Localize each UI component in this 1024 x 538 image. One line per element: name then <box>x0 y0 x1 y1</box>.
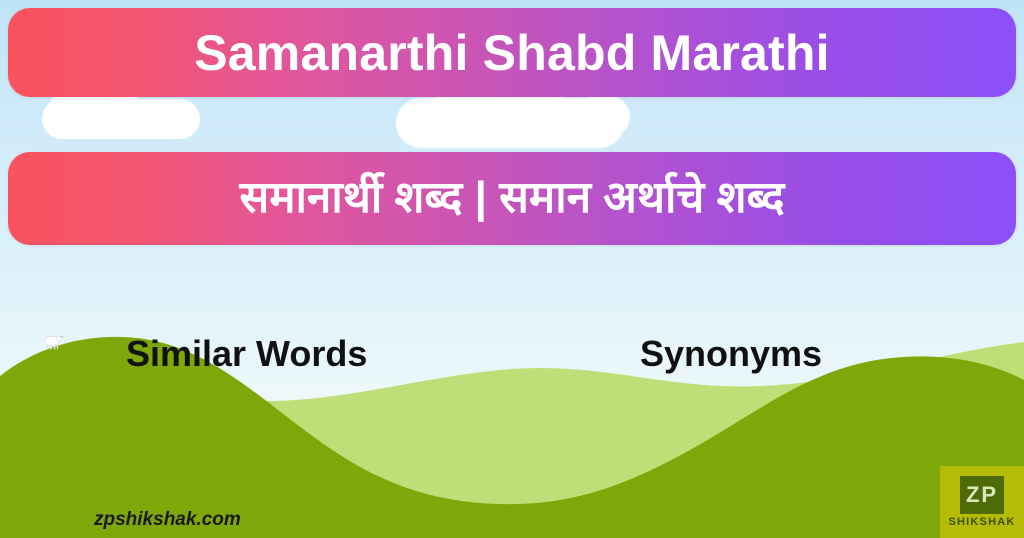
title-banner: Samanarthi Shabd Marathi <box>8 8 1016 97</box>
cloud-left-icon <box>42 99 200 139</box>
logo-mark-text: ZP <box>966 484 998 506</box>
cloud-middle-icon <box>396 98 624 148</box>
sheep-icon <box>41 333 65 351</box>
title-text: Samanarthi Shabd Marathi <box>194 28 830 78</box>
label-synonyms: Synonyms <box>640 333 822 375</box>
logo-mark-tile: ZP <box>960 476 1004 514</box>
poster-canvas: Samanarthi Shabd Marathi समानार्थी शब्द … <box>0 0 1024 538</box>
logo-wordmark: SHIKSHAK <box>948 517 1015 528</box>
zpshikshak-logo: ZP SHIKSHAK <box>940 466 1024 538</box>
subtitle-text: समानार्थी शब्द | समान अर्थाचे शब्द <box>239 173 784 224</box>
label-similar-words: Similar Words <box>126 333 367 375</box>
site-watermark: zpshikshak.com <box>94 509 241 531</box>
subtitle-banner: समानार्थी शब्द | समान अर्थाचे शब्द <box>8 152 1016 245</box>
